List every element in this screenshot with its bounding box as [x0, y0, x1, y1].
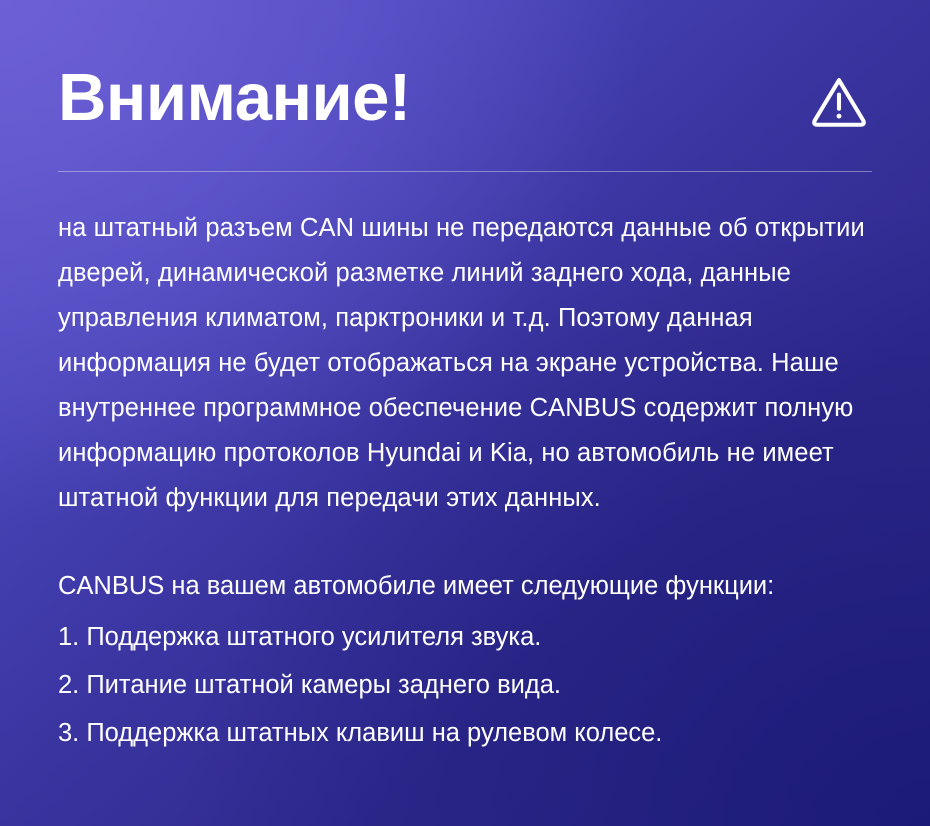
header-divider — [58, 171, 872, 172]
list-item: 3. Поддержка штатных клавиш на рулевом к… — [58, 709, 878, 757]
list-item: 2. Питание штатной камеры заднего вида. — [58, 661, 878, 709]
banner-content: на штатный разъем CAN шины не передаются… — [58, 206, 878, 757]
list-item: 1. Поддержка штатного усилителя звука. — [58, 613, 878, 661]
page-title: Внимание! — [58, 52, 411, 144]
functions-intro: CANBUS на вашем автомобиле имеет следующ… — [58, 564, 878, 609]
banner-header: Внимание! — [58, 52, 870, 152]
functions-block: CANBUS на вашем автомобиле имеет следующ… — [58, 564, 878, 757]
warning-triangle-icon — [808, 70, 870, 132]
intro-paragraph: на штатный разъем CAN шины не передаются… — [58, 206, 876, 521]
functions-list: 1. Поддержка штатного усилителя звука. 2… — [58, 613, 878, 757]
warning-banner: Внимание! на штатный разъем CAN шины не … — [0, 0, 930, 826]
